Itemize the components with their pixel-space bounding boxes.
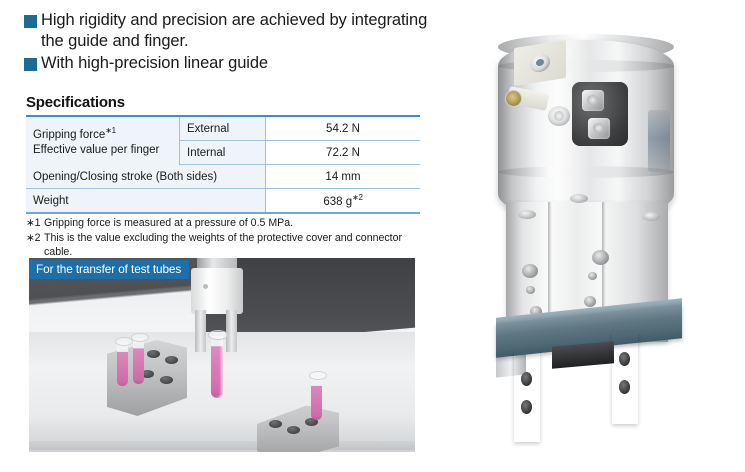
internal-value: 72.2 N xyxy=(266,141,421,165)
footnote-marker: ∗2 xyxy=(26,231,44,246)
effective-value-label: Effective value per finger xyxy=(33,143,179,158)
feature-list: High rigidity and precision are achieved… xyxy=(24,10,436,75)
product-finger-hole xyxy=(619,380,630,394)
internal-label: Internal xyxy=(180,141,266,165)
product-bore-hole xyxy=(588,272,597,280)
product-air-port xyxy=(548,106,570,126)
photo-gripper-screw xyxy=(203,284,208,289)
product-photo xyxy=(452,14,732,464)
specifications-title: Specifications xyxy=(26,94,125,111)
photo-gripper-body xyxy=(191,268,243,314)
photo-test-tube xyxy=(133,338,144,384)
photo-rack-hole xyxy=(269,420,282,428)
photo-test-tube xyxy=(311,376,322,420)
product-connector-pins-icon xyxy=(505,90,522,107)
product-hex-bolt xyxy=(588,118,610,139)
product-screw-head xyxy=(570,194,588,203)
weight-number: 638 g xyxy=(323,196,352,208)
weight-label: Weight xyxy=(26,189,266,214)
photo-rack-hole xyxy=(147,350,160,358)
feature-item: High rigidity and precision are achieved… xyxy=(24,10,436,52)
external-value: 54.2 N xyxy=(266,116,421,141)
footnote-ref-2: ∗2 xyxy=(352,193,363,202)
product-finger-left xyxy=(514,350,540,442)
product-bore-hole xyxy=(584,296,596,307)
product-bore-hole xyxy=(522,264,538,278)
footnote-text: Gripping force is measured at a pressure… xyxy=(44,216,426,231)
product-screw-head xyxy=(642,212,660,221)
footnote-text: This is the value excluding the weights … xyxy=(44,231,426,260)
footnote-item: ∗1 Gripping force is measured at a press… xyxy=(26,216,426,231)
photo-table-edge xyxy=(29,441,415,450)
gripping-force-label-cell: Gripping force∗1 Effective value per fin… xyxy=(26,116,180,165)
application-photo: For the transfer of test tubes xyxy=(29,258,415,452)
feature-item: With high-precision linear guide xyxy=(24,53,436,74)
footnote-ref-1: ∗1 xyxy=(105,126,116,135)
footnotes: ∗1 Gripping force is measured at a press… xyxy=(26,216,426,260)
photo-test-tube-rim xyxy=(131,333,149,342)
photo-test-tube-rim xyxy=(309,371,327,380)
photo-test-tube xyxy=(117,342,128,386)
photo-held-test-tube xyxy=(211,336,223,398)
table-row: Gripping force∗1 Effective value per fin… xyxy=(26,116,420,141)
product-finger-hole xyxy=(521,400,532,414)
photo-rack-hole xyxy=(165,356,178,364)
stroke-value: 14 mm xyxy=(266,165,421,189)
product-side-fittings xyxy=(648,110,670,172)
stroke-label: Opening/Closing stroke (Both sides) xyxy=(26,165,266,189)
photo-rack-hole xyxy=(160,376,173,384)
product-finger-right xyxy=(612,332,638,424)
left-content-column: High rigidity and precision are achieved… xyxy=(0,0,440,472)
weight-value: 638 g∗2 xyxy=(266,189,421,214)
bullet-square-icon xyxy=(24,15,37,28)
product-bore-hole xyxy=(592,250,609,265)
product-bore-hole xyxy=(526,286,535,294)
photo-held-test-tube-rim xyxy=(208,330,228,340)
product-screw-head xyxy=(518,210,536,219)
product-hex-bolt xyxy=(582,90,604,111)
footnote-item: ∗2 This is the value excluding the weigh… xyxy=(26,231,426,260)
photo-caption-badge: For the transfer of test tubes xyxy=(29,260,189,279)
product-finger-hole xyxy=(619,352,630,366)
photo-gripper-finger-left xyxy=(195,310,206,352)
footnote-marker: ∗1 xyxy=(26,216,44,231)
external-label: External xyxy=(180,116,266,141)
feature-text: High rigidity and precision are achieved… xyxy=(41,10,436,52)
table-row: Weight 638 g∗2 xyxy=(26,189,420,214)
photo-rack-hole xyxy=(287,426,300,434)
bullet-square-icon xyxy=(24,58,37,71)
photo-gripper-finger-right xyxy=(226,310,237,352)
product-guide-carriage xyxy=(552,341,614,368)
gripping-force-label: Gripping force xyxy=(33,129,105,141)
product-finger-hole xyxy=(521,372,532,386)
feature-text: With high-precision linear guide xyxy=(41,53,268,74)
specifications-table: Gripping force∗1 Effective value per fin… xyxy=(26,115,420,214)
table-row: Opening/Closing stroke (Both sides) 14 m… xyxy=(26,165,420,189)
